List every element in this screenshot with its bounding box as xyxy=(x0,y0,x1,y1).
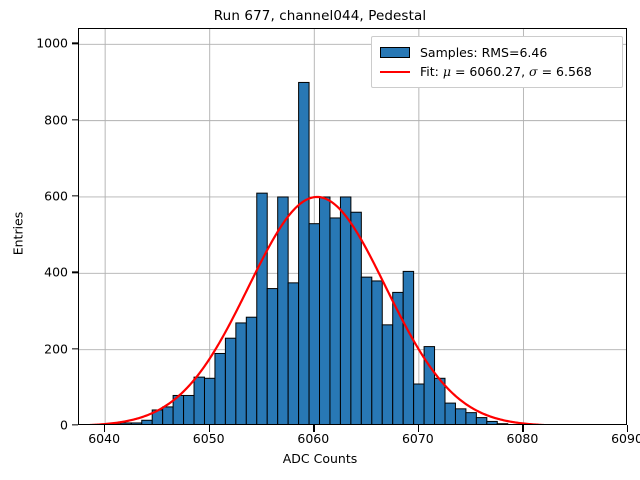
histogram-bar xyxy=(184,395,194,425)
histogram-bar xyxy=(121,423,131,425)
histogram-bar xyxy=(267,289,277,425)
x-tick-mark xyxy=(104,425,105,432)
histogram-bar xyxy=(351,212,361,425)
histogram-bars xyxy=(100,82,508,425)
legend-patch-icon xyxy=(380,47,410,58)
histogram-bar xyxy=(288,283,298,425)
x-tick-mark xyxy=(209,425,210,432)
x-tick-label: 6060 xyxy=(273,431,353,446)
histogram-bar xyxy=(466,413,476,425)
histogram-bar xyxy=(309,224,319,425)
histogram-bar xyxy=(110,424,120,425)
histogram-bar xyxy=(320,197,330,425)
y-tick-label: 1000 xyxy=(0,36,68,51)
histogram-bar xyxy=(361,277,371,425)
legend-item-samples: Samples: RMS=6.46 xyxy=(380,43,614,62)
x-tick-label: 6090 xyxy=(587,431,640,446)
histogram-bar xyxy=(455,409,465,425)
histogram-bar xyxy=(403,271,413,425)
histogram-bar xyxy=(215,353,225,425)
x-tick-label: 6080 xyxy=(482,431,562,446)
x-tick-label: 6050 xyxy=(169,431,249,446)
legend-label-fit: Fit: μ = 6060.27, σ = 6.568 xyxy=(420,64,592,79)
histogram-bar xyxy=(194,377,204,425)
histogram-bar xyxy=(131,423,141,425)
legend-box[interactable]: Samples: RMS=6.46 Fit: μ = 6060.27, σ = … xyxy=(371,36,623,88)
histogram-bar xyxy=(340,197,350,425)
x-tick-mark xyxy=(522,425,523,432)
x-tick-label: 6070 xyxy=(378,431,458,446)
histogram-bar xyxy=(476,418,486,425)
plot-svg xyxy=(79,29,627,425)
y-tick-label: 800 xyxy=(0,112,68,127)
histogram-bar xyxy=(236,323,246,425)
histogram-bar xyxy=(225,338,235,425)
histogram-bar xyxy=(257,193,267,425)
legend-sigma-value: 6.568 xyxy=(556,64,592,79)
legend-line-icon xyxy=(380,71,410,73)
histogram-bar xyxy=(372,281,382,425)
histogram-bar xyxy=(330,218,340,425)
histogram-bar xyxy=(299,82,309,425)
histogram-bar xyxy=(414,384,424,425)
x-tick-label: 6040 xyxy=(64,431,144,446)
y-axis-label: Entries xyxy=(11,134,26,334)
x-tick-mark xyxy=(627,425,628,432)
histogram-bar xyxy=(445,403,455,425)
histogram-bar xyxy=(163,407,173,425)
legend-mu-value: 6060.27 xyxy=(469,64,521,79)
x-tick-mark xyxy=(418,425,419,432)
histogram-bar xyxy=(204,378,214,425)
histogram-bar xyxy=(382,325,392,425)
figure-canvas: Run 677, channel044, Pedestal 0200400600… xyxy=(0,0,640,480)
y-tick-label: 0 xyxy=(0,418,68,433)
histogram-bar xyxy=(497,424,507,425)
legend-label-samples: Samples: RMS=6.46 xyxy=(420,45,547,60)
histogram-bar xyxy=(142,420,152,425)
x-axis-label: ADC Counts xyxy=(0,451,640,466)
y-tick-label: 200 xyxy=(0,341,68,356)
legend-item-fit: Fit: μ = 6060.27, σ = 6.568 xyxy=(380,62,614,81)
x-tick-mark xyxy=(313,425,314,432)
histogram-bar xyxy=(246,317,256,425)
histogram-bar xyxy=(487,421,497,425)
page-title: Run 677, channel044, Pedestal xyxy=(0,8,640,24)
